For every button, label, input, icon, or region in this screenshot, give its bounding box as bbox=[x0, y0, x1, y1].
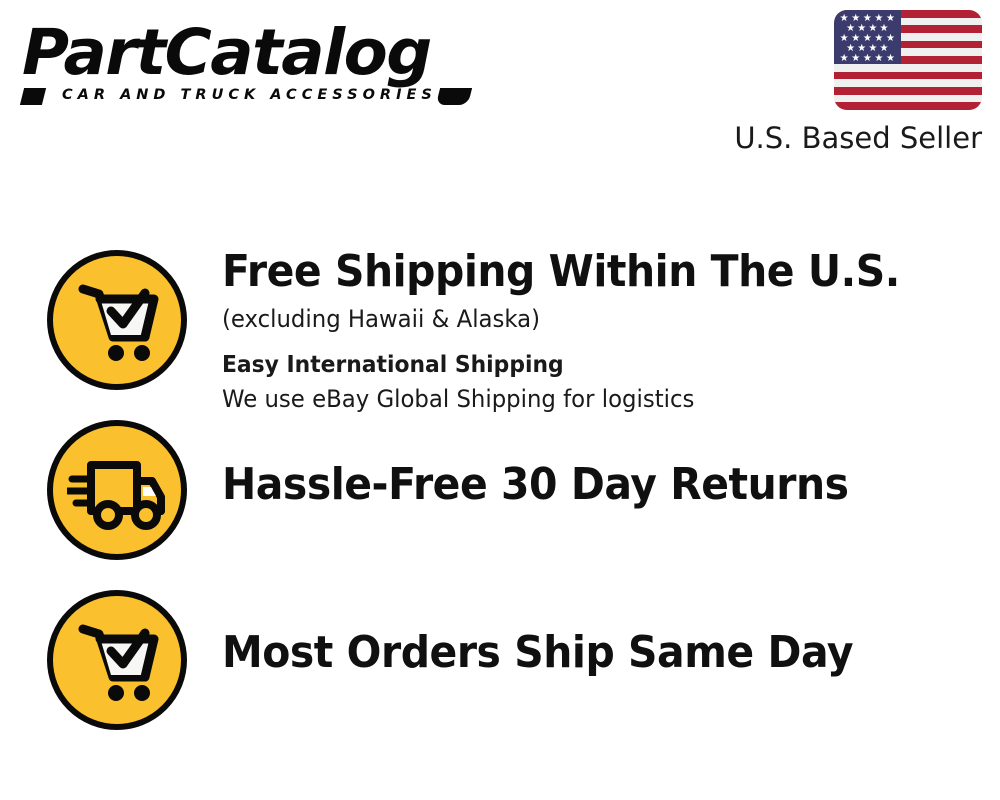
feature-text-same-day: Most Orders Ship Same Day bbox=[222, 590, 1000, 678]
delivery-truck-icon bbox=[47, 420, 187, 560]
us-flag-icon: ★ ★ ★ ★ ★ ★ ★ ★ ★ ★ ★ ★ bbox=[834, 10, 982, 110]
flag-stripe bbox=[834, 102, 982, 110]
feature-row-same-day: Most Orders Ship Same Day bbox=[0, 590, 1000, 750]
feature-row-returns: Hassle-Free 30 Day Returns bbox=[0, 420, 1000, 590]
feature-subtext-international-heading: Easy International Shipping bbox=[222, 349, 961, 381]
shopping-cart-check-icon bbox=[47, 590, 187, 730]
flag-star-row: ★ ★ ★ ★ ★ bbox=[837, 54, 898, 64]
seller-badge-label: U.S. Based Seller bbox=[712, 121, 982, 155]
flag-stripe bbox=[834, 79, 982, 87]
star-icon: ★ bbox=[886, 54, 895, 64]
star-icon: ★ bbox=[874, 54, 883, 64]
feature-subtext-logistics: We use eBay Global Shipping for logistic… bbox=[222, 383, 961, 415]
feature-text-returns: Hassle-Free 30 Day Returns bbox=[222, 420, 1000, 510]
tagline-rule-left-icon bbox=[20, 88, 46, 105]
feature-heading: Most Orders Ship Same Day bbox=[222, 628, 946, 678]
feature-heading: Free Shipping Within The U.S. bbox=[222, 247, 946, 297]
flag-stripe bbox=[834, 64, 982, 72]
seller-badge: ★ ★ ★ ★ ★ ★ ★ ★ ★ ★ ★ ★ bbox=[712, 10, 982, 155]
brand-logo[interactable]: PartCatalog CAR AND TRUCK ACCESSORIES bbox=[22, 20, 492, 115]
feature-heading: Hassle-Free 30 Day Returns bbox=[222, 460, 946, 510]
flag-stripe bbox=[834, 95, 982, 103]
brand-tagline-row: CAR AND TRUCK ACCESSORIES bbox=[22, 87, 492, 109]
banner-page: PartCatalog CAR AND TRUCK ACCESSORIES bbox=[0, 0, 1000, 800]
shopping-cart-check-icon bbox=[47, 250, 187, 390]
flag-stripe bbox=[834, 72, 982, 80]
star-icon: ★ bbox=[840, 54, 849, 64]
brand-tagline: CAR AND TRUCK ACCESSORIES bbox=[62, 87, 437, 103]
flag-stripe bbox=[834, 87, 982, 95]
brand-wordmark: PartCatalog bbox=[22, 20, 501, 86]
tagline-rule-right-icon bbox=[436, 88, 472, 105]
feature-text-free-shipping: Free Shipping Within The U.S. (excluding… bbox=[222, 245, 1000, 415]
star-icon: ★ bbox=[851, 54, 860, 64]
header: PartCatalog CAR AND TRUCK ACCESSORIES bbox=[0, 0, 1000, 170]
flag-canton: ★ ★ ★ ★ ★ ★ ★ ★ ★ ★ ★ ★ bbox=[834, 10, 901, 64]
feature-row-free-shipping: Free Shipping Within The U.S. (excluding… bbox=[0, 245, 1000, 420]
star-icon: ★ bbox=[863, 54, 872, 64]
feature-subtext-exclusions: (excluding Hawaii & Alaska) bbox=[222, 303, 961, 335]
